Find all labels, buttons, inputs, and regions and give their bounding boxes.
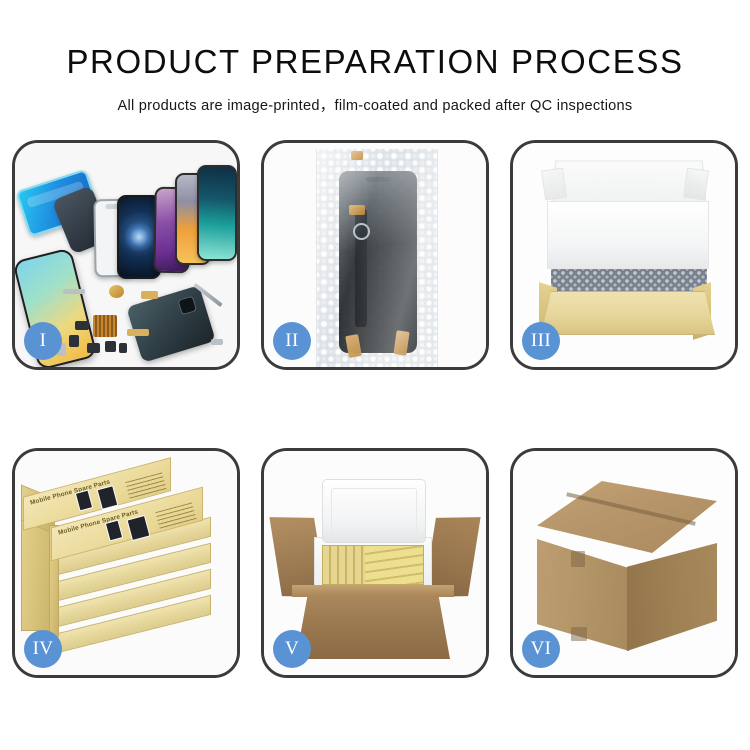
carton-handle-notch-image <box>571 551 585 567</box>
flex-cable-component-image <box>127 329 149 336</box>
tape-piece-image <box>349 205 365 215</box>
carton-handle-notch-image <box>571 627 587 641</box>
step-badge-5: V <box>273 630 311 668</box>
product-preparation-infographic: PRODUCT PREPARATION PROCESS All products… <box>0 0 750 750</box>
chip-component-image <box>119 343 127 353</box>
step-badge-2: II <box>273 322 311 360</box>
chip-component-image <box>75 321 89 330</box>
tape-piece-image <box>351 151 363 160</box>
page-title: PRODUCT PREPARATION PROCESS <box>0 45 750 78</box>
process-step-1: I <box>12 140 240 370</box>
chip-component-image <box>105 341 116 352</box>
flex-cable-component-image <box>141 291 158 299</box>
screw-component-image <box>211 339 223 345</box>
chip-component-image <box>87 343 100 353</box>
step-badge-3: III <box>522 322 560 360</box>
white-foam-sheet-image <box>547 201 709 269</box>
process-step-2: II <box>261 140 489 370</box>
step-badge-4: IV <box>24 630 62 668</box>
box-lid-flap-right-image <box>683 168 709 201</box>
page-subtitle: All products are image-printed，film-coat… <box>0 94 750 115</box>
box-lid-flap-left-image <box>541 168 567 201</box>
wrapped-screen-part-image <box>339 171 417 353</box>
carton-rim-image <box>292 585 454 597</box>
process-step-5: V <box>261 448 489 678</box>
logic-board-component-image <box>93 315 117 337</box>
step-badge-6: VI <box>522 630 560 668</box>
chip-component-image <box>69 335 79 347</box>
header: PRODUCT PREPARATION PROCESS All products… <box>0 0 750 115</box>
metal-bracket-component-image <box>63 289 85 294</box>
foam-cooler-lid-image <box>322 479 426 543</box>
phone-teal-screen-image <box>197 165 237 261</box>
bubble-wrap-bag-image <box>316 149 438 367</box>
step-badge-1: I <box>24 322 62 360</box>
speaker-component-image <box>109 285 124 298</box>
process-step-3: III <box>510 140 738 370</box>
packed-retail-boxes-image <box>322 545 424 585</box>
process-step-6: VI <box>510 448 738 678</box>
process-step-grid: I II <box>12 140 738 680</box>
process-step-4: Mobile Phone Spare Parts Mobile Phone Sp… <box>12 448 240 678</box>
wrapped-camera-ring-image <box>353 223 370 240</box>
kraft-box-front-image <box>541 291 715 335</box>
carton-front-image <box>296 591 450 659</box>
